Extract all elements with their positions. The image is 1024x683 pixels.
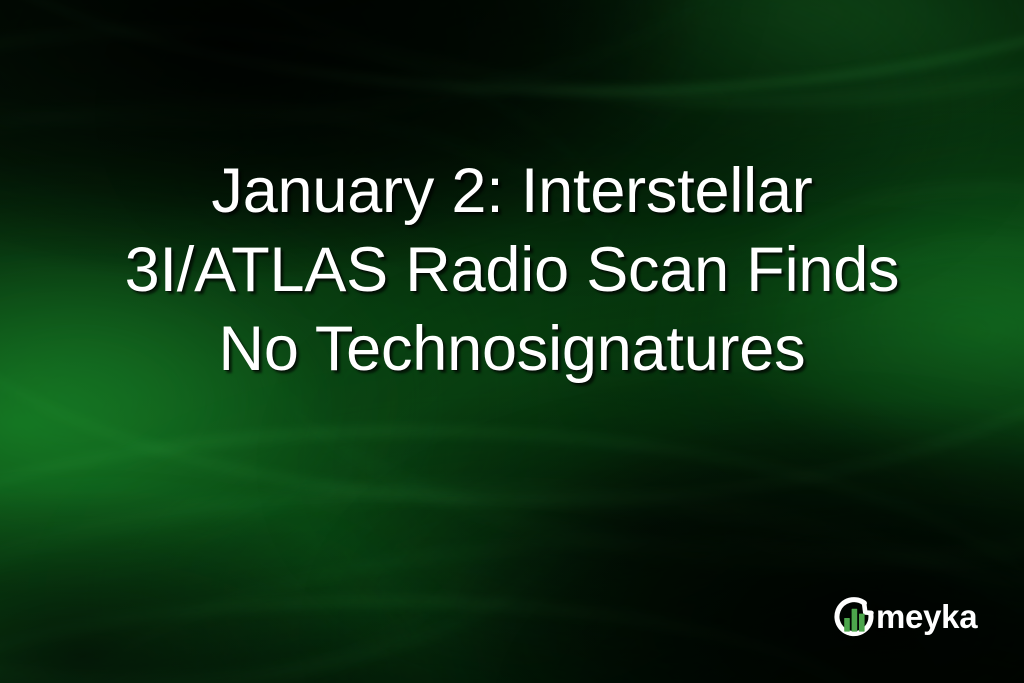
title-line-2: 3I/ATLAS Radio Scan Finds xyxy=(28,231,996,310)
meyka-circle-bars-logo-icon xyxy=(834,596,876,638)
streak-lower-2 xyxy=(0,490,1024,683)
title-line-3: No Technosignatures xyxy=(28,310,996,389)
shadow-band-bottom xyxy=(0,600,880,683)
glow-band-bottom-left xyxy=(0,540,440,683)
logo-bar-medium xyxy=(859,614,865,632)
logo-bar-short xyxy=(844,618,850,632)
streak-bottom-eddy-2 xyxy=(0,360,480,683)
glow-band-lower-center xyxy=(60,430,960,683)
shadow-band-lower-right xyxy=(380,470,1024,683)
meyka-wordmark: meyka xyxy=(876,600,977,634)
page-title: January 2: Interstellar 3I/ATLAS Radio S… xyxy=(0,152,1024,389)
logo-bar-tall xyxy=(852,609,858,632)
title-line-1: January 2: Interstellar xyxy=(28,152,996,231)
streak-top-1 xyxy=(0,0,1024,92)
streak-bottom-rim xyxy=(0,600,880,683)
news-card: January 2: Interstellar 3I/ATLAS Radio S… xyxy=(0,0,1024,683)
meyka-logo[interactable]: meyka xyxy=(834,596,977,638)
streak-top-3 xyxy=(0,0,760,122)
streak-lower-1 xyxy=(0,430,1024,683)
streak-top-2 xyxy=(130,0,1024,102)
